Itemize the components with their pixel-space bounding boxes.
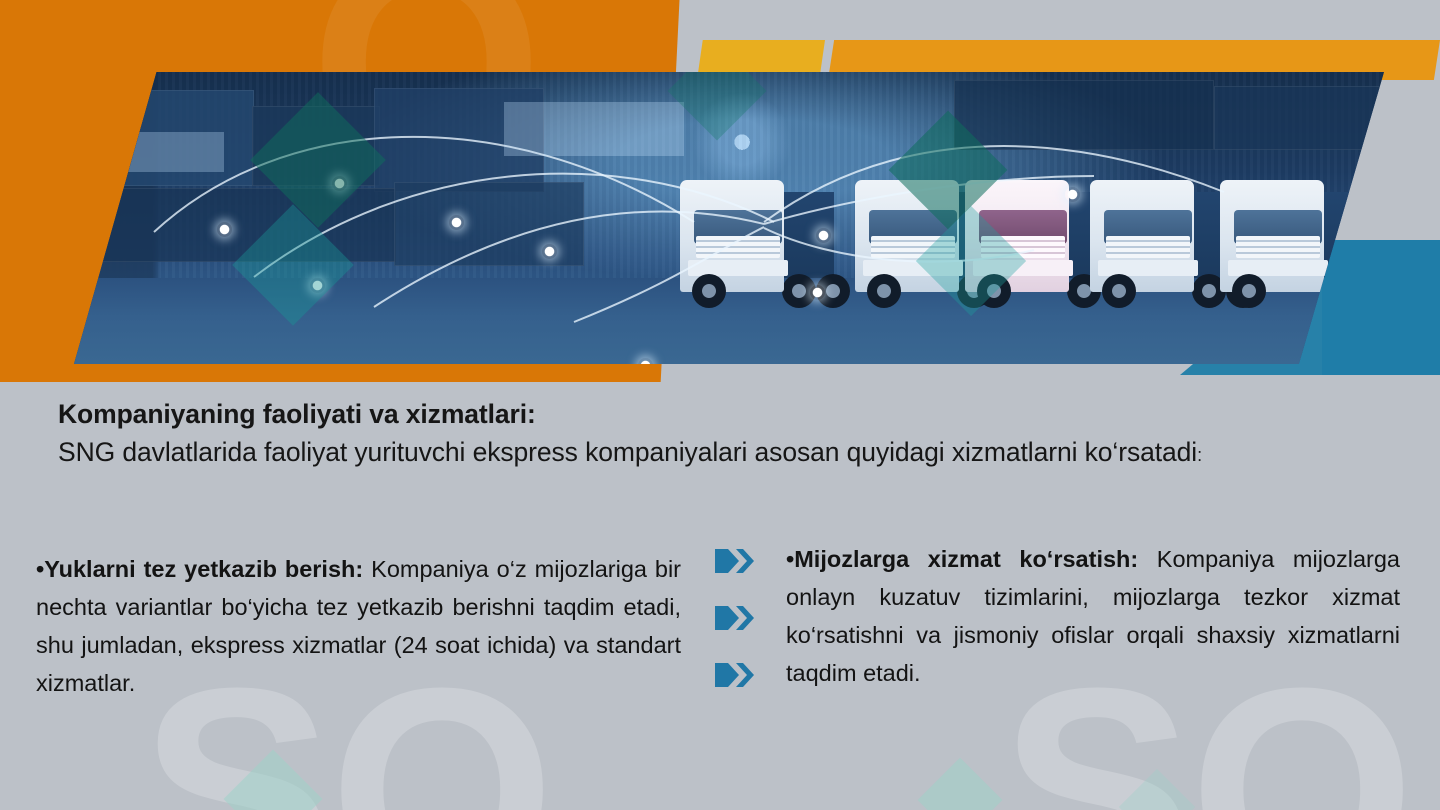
network-node [1065,187,1080,202]
slide-subtitle-colon: : [1197,445,1202,465]
bullet-paragraph-left: •Yuklarni tez yetkazib berish: Kompaniya… [36,550,681,702]
slide-subtitle: SNG davlatlarida faoliyat yurituvchi eks… [58,434,1358,472]
double-chevron-right-icon [714,662,756,688]
double-chevron-right-icon [714,548,756,574]
bullet-paragraph-right: •Mijozlarga xizmat ko‘rsatish: Kompaniya… [786,540,1400,692]
network-node [310,278,325,293]
arrow-bullet-stack [714,548,760,700]
network-node [217,222,232,237]
bullet-marker: • [786,546,794,572]
network-node [810,285,825,300]
bullet-lead-label: Yuklarni tez yetkazib berish: [44,556,363,582]
network-node [449,215,464,230]
heading-block: Kompaniyaning faoliyati va xizmatlari: S… [58,396,1358,471]
hero-photo-logistics-trucks [74,72,1384,364]
slide-title: Kompaniyaning faoliyati va xizmatlari: [58,396,1358,434]
network-node [542,244,557,259]
teal-accent-block [1322,240,1440,375]
bullet-lead-label: Mijozlarga xizmat ko‘rsatish: [794,546,1138,572]
network-node [816,228,831,243]
slide-subtitle-text: SNG davlatlarida faoliyat yurituvchi eks… [58,437,1197,467]
network-node [332,176,347,191]
bullet-marker: • [36,556,44,582]
arrow-bullet-row [714,662,760,700]
double-chevron-right-icon [714,605,756,631]
arrow-bullet-row [714,548,760,586]
arrow-bullet-row [714,605,760,643]
global-network-arcs-overlay [74,72,1384,364]
presentation-slide: O [0,0,1440,810]
